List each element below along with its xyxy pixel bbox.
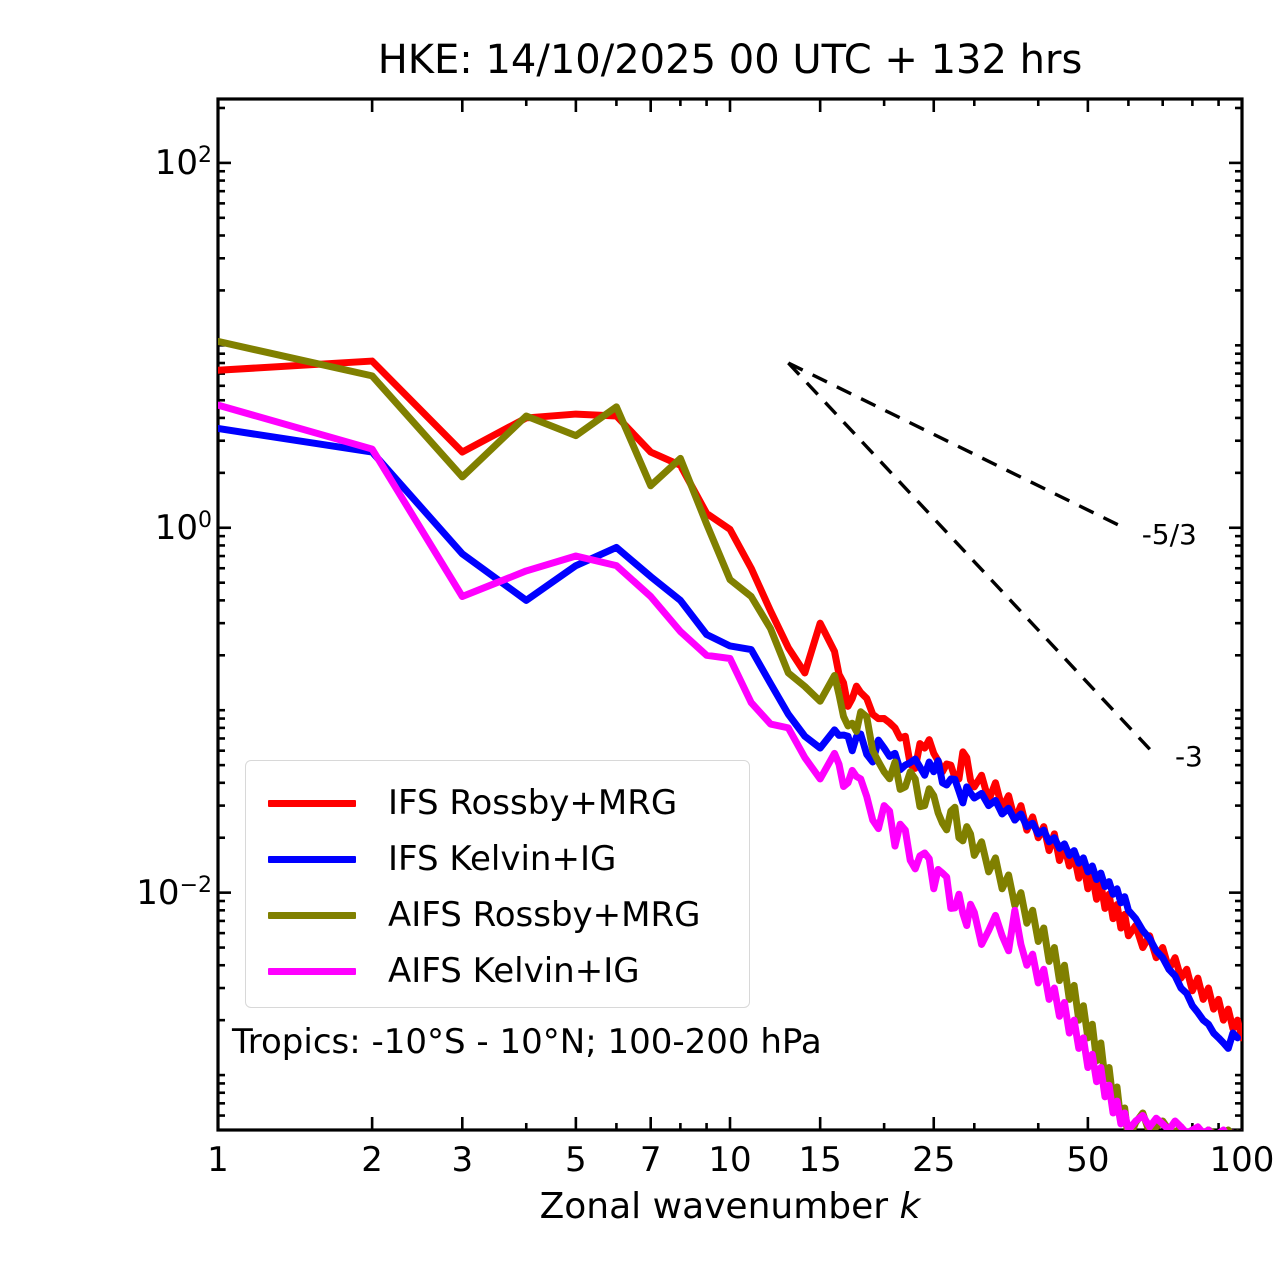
x-tick-label-15: 15 xyxy=(799,1140,842,1180)
legend-item-label: IFS Rossby+MRG xyxy=(388,783,677,823)
x-tick-label-5: 5 xyxy=(565,1140,587,1180)
region-annotation: Tropics: -10°S - 10°N; 100-200 hPa xyxy=(232,1022,822,1062)
chart-figure: HKE: 14/10/2025 00 UTC + 132 hrs Horizon… xyxy=(0,0,1280,1288)
legend-item-label: IFS Kelvin+IG xyxy=(388,839,616,879)
legend-swatch-icon xyxy=(268,912,356,919)
legend-item-label: AIFS Rossby+MRG xyxy=(388,895,700,935)
y-tick-label-100: 100 xyxy=(155,508,212,548)
legend-item-0[interactable]: IFS Rossby+MRG xyxy=(246,775,749,831)
x-tick-label-100: 100 xyxy=(1210,1140,1275,1180)
legend-swatch-icon xyxy=(268,968,356,975)
chart-legend: IFS Rossby+MRGIFS Kelvin+IGAIFS Rossby+M… xyxy=(245,760,750,1008)
slope-label--3: -3 xyxy=(1175,740,1203,773)
legend-swatch-icon xyxy=(268,856,356,863)
plot-canvas xyxy=(0,0,1280,1288)
legend-item-3[interactable]: AIFS Kelvin+IG xyxy=(246,943,749,999)
legend-item-1[interactable]: IFS Kelvin+IG xyxy=(246,831,749,887)
legend-swatch-icon xyxy=(268,800,356,807)
y-tick-label-10-2: 10−2 xyxy=(136,872,212,912)
x-tick-label-1: 1 xyxy=(207,1140,229,1180)
slope-label--5-3: -5/3 xyxy=(1142,518,1197,551)
x-tick-label-7: 7 xyxy=(640,1140,662,1180)
data-series-layer xyxy=(218,341,1242,1140)
series-line-aifs-rossby-mrg xyxy=(218,341,1242,1140)
x-tick-label-3: 3 xyxy=(451,1140,473,1180)
x-tick-label-25: 25 xyxy=(912,1140,955,1180)
legend-item-label: AIFS Kelvin+IG xyxy=(388,951,640,991)
x-tick-label-50: 50 xyxy=(1066,1140,1109,1180)
y-tick-label-102: 102 xyxy=(155,143,212,183)
x-tick-label-10: 10 xyxy=(708,1140,751,1180)
x-tick-label-2: 2 xyxy=(361,1140,383,1180)
legend-item-2[interactable]: AIFS Rossby+MRG xyxy=(246,887,749,943)
